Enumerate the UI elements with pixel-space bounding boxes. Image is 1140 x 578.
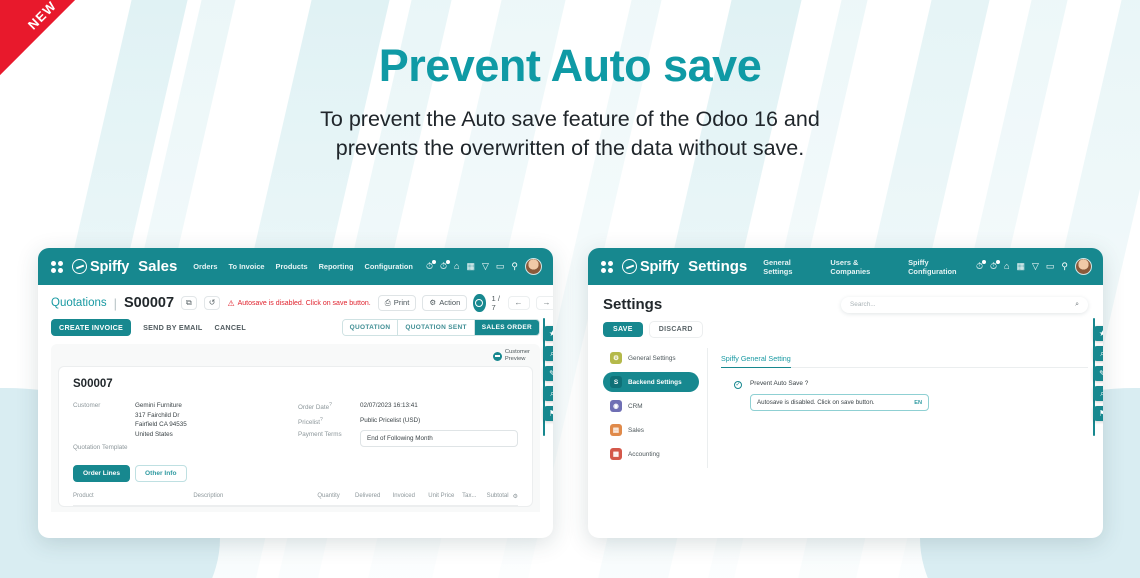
sales-navbar-icons: ⏱ ⏱ ⌂ ▦ ▽ ▭ ⚲ [426,258,544,275]
breadcrumb-parent[interactable]: Quotations [51,297,107,309]
sidebar-item-label: Sales [628,427,644,434]
status-quotation[interactable]: QUOTATION [343,320,399,335]
nav-item-configuration[interactable]: Configuration [364,262,412,271]
subtitle-line-2: prevents the overwritten of the data wit… [0,134,1140,163]
apps-grid-icon[interactable] [601,261,613,273]
prevent-auto-save-checkbox[interactable]: ✓ [734,381,742,389]
bookmark-icon[interactable]: ⚑ [1093,406,1103,421]
save-button[interactable]: SAVE [603,322,643,337]
record-fields: Customer Gemini Furniture 317 Fairchild … [73,401,518,455]
megaphone-icon[interactable]: ▽ [1032,262,1039,271]
discard-button[interactable]: DISCARD [650,322,702,337]
quotation-template-label: Quotation Template [73,443,135,451]
search-icon[interactable]: ⌕ [1093,346,1103,361]
search-icon[interactable]: ⌕ [543,346,553,361]
preview-eye-icon [493,352,502,361]
pin-icon[interactable]: ⚲ [511,262,518,271]
duplicate-record-button[interactable]: ⧉ [181,296,197,310]
action-label: Action [439,299,460,307]
sidebar-item-label: General Settings [628,355,676,362]
nav-item-to-invoice[interactable]: To Invoice [229,262,265,271]
page-subtitle: To prevent the Auto save feature of the … [0,105,1140,163]
avatar[interactable] [525,258,542,275]
settings-main: ⚙ General Settings S Backend Settings ◉ … [603,348,1088,468]
th-description: Description [193,493,317,500]
activity-clock-icon[interactable]: ⏱ [976,262,983,271]
star-icon[interactable]: ★ [543,326,553,341]
sales-breadcrumb-row: Quotations | S00007 ⧉ ↺ ⚠ Autosave is di… [51,294,540,312]
edit-pencil-icon[interactable]: ✎ [543,366,553,381]
payment-terms-field: Payment Terms End of Following Month [298,430,518,447]
brand-logo[interactable]: Spiffy [72,259,129,275]
save-record-button[interactable] [473,294,485,312]
zoom-search-icon[interactable]: ⌕ [543,386,553,401]
sales-order-sheet: S00007 Customer Gemini Furniture 317 Fai… [59,367,532,506]
nav-item-general-settings[interactable]: General Settings [763,258,819,276]
settings-nav-links: General Settings Users & Companies Spiff… [763,258,976,276]
sales-screenshot-panel: Spiffy Sales Orders To Invoice Products … [38,248,553,538]
customer-address-line-3: United States [135,431,173,438]
customer-preview-button[interactable]: Customer Preview [493,349,530,363]
subtitle-line-1: To prevent the Auto save feature of the … [0,105,1140,134]
grid-icon[interactable]: ▦ [466,262,475,271]
cancel-button[interactable]: CANCEL [215,323,246,332]
search-input[interactable]: Search... [850,301,876,308]
app-name: Sales [138,258,177,275]
page-title: Prevent Auto save [0,40,1140,92]
customer-value[interactable]: Gemini Furniture [135,402,182,409]
sidebar-item-label: Backend Settings [628,379,682,386]
status-quotation-sent[interactable]: QUOTATION SENT [398,320,474,335]
th-unit-price: Unit Price [428,493,462,500]
nav-item-products[interactable]: Products [276,262,308,271]
settings-header-row: Settings Search... ⌕ [603,296,1088,313]
print-button[interactable]: ⎙ Print [378,295,417,311]
customer-address-line-2: Fairfield CA 94535 [135,421,187,428]
customer-preview-row: Customer Preview [51,344,540,363]
brand-name: Spiffy [90,259,129,275]
settings-side-rail: ★ ⌕ ✎ ⌕ ⚑ [1093,326,1103,421]
sales-control-panel: Quotations | S00007 ⧉ ↺ ⚠ Autosave is di… [38,285,553,336]
order-date-value: 02/07/2023 16:13:41 [360,401,418,411]
sales-nav-links: Orders To Invoice Products Reporting Con… [193,262,413,271]
nav-item-users-and-companies[interactable]: Users & Companies [830,258,897,276]
settings-title: Settings [603,296,662,313]
message-icon[interactable]: ▭ [496,262,505,271]
sidebar-item-crm[interactable]: ◉ CRM [603,396,699,416]
pricelist-label: Pricelist? [298,416,360,426]
preview-line-1: Customer [505,349,530,355]
settings-navbar-icons: ⏱ ⏱ ⌂ ▦ ▽ ▭ ⚲ [976,258,1094,275]
payment-terms-input[interactable]: End of Following Month [360,430,518,447]
sales-side-rail: ★ ⌕ ✎ ⌕ ⚑ [543,326,553,421]
nav-item-reporting[interactable]: Reporting [319,262,354,271]
record-pager: 1 / 7 [492,294,502,312]
status-bar: QUOTATION QUOTATION SENT SALES ORDER [342,319,540,336]
activity-clock-icon[interactable]: ⏱ [426,262,433,271]
record-fields-left: Customer Gemini Furniture 317 Fairchild … [73,401,280,455]
status-sales-order[interactable]: SALES ORDER [475,320,539,335]
language-badge[interactable]: EN [914,400,922,406]
link-clock-icon[interactable]: ⏱ [440,262,447,271]
brand-logo[interactable]: Spiffy [622,259,679,275]
edit-pencil-icon[interactable]: ✎ [1093,366,1103,381]
settings-body: Settings Search... ⌕ SAVE DISCARD ⚙ Gene… [588,285,1103,468]
hero-section: Prevent Auto save To prevent the Auto sa… [0,0,1140,163]
breadcrumb-current: S00007 [124,295,174,311]
payment-terms-label: Payment Terms [298,430,360,447]
action-button[interactable]: ⚙ Action [422,295,467,311]
tab-spiffy-general-setting[interactable]: Spiffy General Setting [721,354,791,368]
nav-item-spiffy-configuration[interactable]: Spiffy Configuration [908,258,976,276]
order-lines-table-header: Product Description Quantity Delivered I… [73,493,518,506]
discard-changes-button[interactable]: ↺ [204,296,221,310]
sales-icon: ▤ [610,424,622,436]
th-quantity: Quantity [317,493,355,500]
spiffy-logo-icon [72,259,87,274]
settings-action-row: SAVE DISCARD [603,322,1088,337]
link-clock-icon[interactable]: ⏱ [990,262,997,271]
prevent-auto-save-option: ✓ Prevent Auto Save ? Autosave is disabl… [721,380,1088,411]
spiffy-logo-icon [622,259,637,274]
order-date-field: Order Date? 02/07/2023 16:13:41 [298,401,518,411]
sales-button-row: CREATE INVOICE SEND BY EMAIL CANCEL QUOT… [51,319,540,336]
autosave-warning: ⚠ Autosave is disabled. Click on save bu… [227,299,370,308]
sidebar-item-backend-settings[interactable]: S Backend Settings [603,372,699,392]
sheet-tabs: Order Lines Other Info [73,465,518,482]
gear-icon: ⚙ [429,299,436,307]
record-number: S00007 [73,378,518,390]
pager-prev-button[interactable]: ← [508,296,530,310]
sidebar-item-accounting[interactable]: ▦ Accounting [603,444,699,464]
message-icon[interactable]: ▭ [1046,262,1055,271]
prevent-auto-save-label: Prevent Auto Save ? [750,380,1088,387]
app-name: Settings [688,258,747,275]
settings-content: Spiffy General Setting ✓ Prevent Auto Sa… [708,348,1088,468]
sidebar-item-general-settings[interactable]: ⚙ General Settings [603,348,699,368]
send-by-email-button[interactable]: SEND BY EMAIL [143,323,202,332]
preview-line-2: Preview [505,356,526,362]
record-fields-right: Order Date? 02/07/2023 16:13:41 Pricelis… [280,401,518,455]
quotation-template-field: Quotation Template [73,443,280,451]
pin-icon[interactable]: ⚲ [1061,262,1068,271]
sales-actions: ⎙ Print ⚙ Action 1 / 7 ← → Create [378,294,553,312]
sidebar-item-label: Accounting [628,451,660,458]
avatar[interactable] [1075,258,1092,275]
brand-name: Spiffy [640,259,679,275]
sidebar-item-label: CRM [628,403,643,410]
pricelist-value: Public Pricelist (USD) [360,416,420,426]
pricelist-field: Pricelist? Public Pricelist (USD) [298,416,518,426]
accounting-icon: ▦ [610,448,622,460]
th-invoiced: Invoiced [393,493,429,500]
order-date-label: Order Date? [298,401,360,411]
th-subtotal: Subtotal [487,493,509,500]
create-invoice-button[interactable]: CREATE INVOICE [51,319,131,336]
pager-next-button[interactable]: → [536,296,553,310]
breadcrumb-separator: | [114,296,117,311]
warning-triangle-icon: ⚠ [227,299,234,308]
bag-icon[interactable]: ⌂ [1004,262,1009,271]
settings-search-box[interactable]: Search... ⌕ [841,297,1088,313]
bookmark-icon[interactable]: ⚑ [543,406,553,421]
customer-field: Customer Gemini Furniture 317 Fairchild … [73,401,280,439]
th-tax: Tax... [462,493,486,500]
th-delivered: Delivered [355,493,393,500]
tab-order-lines[interactable]: Order Lines [73,465,130,482]
th-product: Product [73,493,193,500]
crm-icon: ◉ [610,400,622,412]
autosave-message-field[interactable]: Autosave is disabled. Click on save butt… [750,394,929,411]
grid-icon[interactable]: ▦ [1016,262,1025,271]
megaphone-icon[interactable]: ▽ [482,262,489,271]
print-label: Print [394,299,410,307]
autosave-warning-text: Autosave is disabled. Click on save butt… [238,300,371,307]
autosave-message-input[interactable]: Autosave is disabled. Click on save butt… [757,399,875,406]
settings-screenshot-panel: Spiffy Settings General Settings Users &… [588,248,1103,538]
customer-preview-label: Customer Preview [505,349,530,363]
settings-sidebar: ⚙ General Settings S Backend Settings ◉ … [603,348,708,468]
search-icon[interactable]: ⌕ [1075,301,1079,309]
print-icon: ⎙ [385,299,391,307]
general-settings-icon: ⚙ [610,352,622,364]
bag-icon[interactable]: ⌂ [454,262,459,271]
nav-item-orders[interactable]: Orders [193,262,217,271]
tab-other-info[interactable]: Other Info [135,465,187,482]
sidebar-item-sales[interactable]: ▤ Sales [603,420,699,440]
sales-navbar: Spiffy Sales Orders To Invoice Products … [38,248,553,285]
zoom-search-icon[interactable]: ⌕ [1093,386,1103,401]
backend-settings-icon: S [610,376,622,388]
column-options-icon[interactable]: ⚙ [513,493,518,500]
customer-address-line-1: 317 Fairchild Dr [135,412,179,419]
customer-label: Customer [73,401,135,439]
settings-navbar: Spiffy Settings General Settings Users &… [588,248,1103,285]
star-icon[interactable]: ★ [1093,326,1103,341]
sales-sheet-wrapper: Customer Preview S00007 Customer Gemini … [51,344,540,512]
apps-grid-icon[interactable] [51,261,63,273]
